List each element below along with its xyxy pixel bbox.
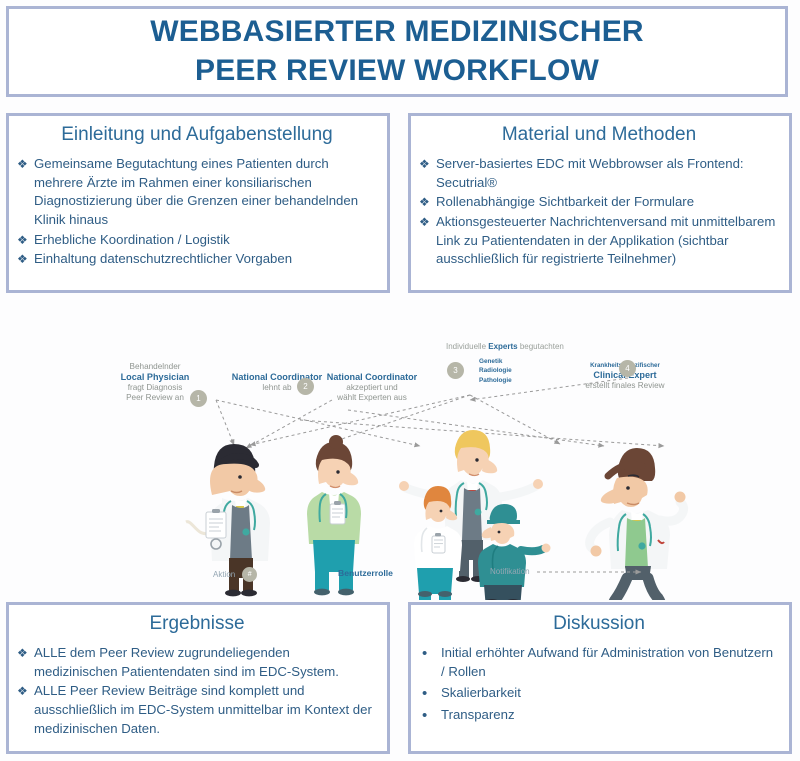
legend-action: Aktion # [213,567,257,582]
legend-role: Benutzerrolle [338,568,393,578]
page-title: WEBBASIERTER MEDIZINISCHER PEER REVIEW W… [150,13,644,90]
list-item: ❖ALLE dem Peer Review zugrundeliegenden … [17,644,377,681]
expert-specialty-pathologie: Pathologie [479,377,512,384]
bullet-marker-icon: • [422,683,427,706]
bullet-marker-icon: ❖ [17,682,28,700]
legend-notification-label: Notifikation [490,567,530,576]
bullet-marker-icon: • [422,643,427,666]
step-badge-1: 1 [190,390,207,407]
panel-methods-list: ❖Server-basiertes EDC mit Webbrowser als… [419,155,779,269]
panel-methods: Material und Methoden ❖Server-basiertes … [408,113,792,293]
list-item: ❖Rollenabhängige Sichtbarkeit der Formul… [419,193,779,212]
label-coordinator-reject-sub: lehnt ab [262,383,291,392]
list-item-text: Gemeinsame Begutachtung eines Patienten … [34,156,358,227]
list-item-text: ALLE dem Peer Review zugrundeliegenden m… [34,645,339,679]
list-item: ❖Gemeinsame Begutachtung eines Patienten… [17,155,377,230]
panel-methods-title: Material und Methoden [419,124,779,147]
panel-introduction: Einleitung und Aufgabenstellung ❖Gemeins… [6,113,390,293]
experts-note-strong: Experts [488,342,517,351]
list-item: ❖Einhaltung datenschutzrechtlicher Vorga… [17,250,377,269]
list-item: ❖ALLE Peer Review Beiträge sind komplett… [17,682,377,738]
page-title-line1: WEBBASIERTER MEDIZINISCHER [150,15,644,48]
bullet-marker-icon: ❖ [17,231,28,249]
panel-results: Ergebnisse ❖ALLE dem Peer Review zugrund… [6,602,390,754]
label-local-physician-sub1: fragt Diagnosis [128,383,183,392]
list-item: ❖Server-basiertes EDC mit Webbrowser als… [419,155,779,192]
bullet-marker-icon: ❖ [419,213,430,231]
expert-specialty-genetik: Genetik [479,358,502,365]
list-item-text: Einhaltung datenschutzrechtlicher Vorgab… [34,251,292,266]
legend-role-label: Benutzerrolle [338,568,393,578]
experts-note-post: begutachten [518,342,564,351]
workflow-figure: Individuelle Experts begutachten Genetik… [0,300,800,600]
list-item: •Transparenz [419,706,779,725]
illustration-clinical-expert [590,448,686,600]
list-item: •Skalierbarkeit [419,684,779,703]
panel-discussion-list: •Initial erhöhter Aufwand für Administra… [419,644,779,725]
step-badge-3: 3 [447,362,464,379]
workflow-diagram-svg [0,300,800,600]
panel-results-title: Ergebnisse [17,613,377,636]
list-item-text: Server-basiertes EDC mit Webbrowser als … [436,156,744,190]
experts-note: Individuelle Experts begutachten [446,342,564,351]
list-item-text: Aktionsgesteuerter Nachrichtenversand mi… [436,214,775,266]
label-local-physician-role: Local Physician [100,372,210,383]
list-item-text: Initial erhöhter Aufwand für Administrat… [441,645,773,679]
label-coordinator-accept-sub2: wählt Experten aus [337,393,407,402]
label-local-physician-above: Behandelnder [130,362,181,371]
bullet-marker-icon: ❖ [419,193,430,211]
label-coordinator-accept-role: National Coordinator [308,372,436,383]
list-item: ❖Erhebliche Koordination / Logistik [17,231,377,250]
legend-action-badge-icon: # [242,567,257,582]
list-item: ❖Aktionsgesteuerter Nachrichtenversand m… [419,213,779,269]
step-badge-4: 4 [619,360,636,377]
panel-discussion: Diskussion •Initial erhöhter Aufwand für… [408,602,792,754]
legend-dashed-arrow-icon [537,568,649,576]
panel-discussion-title: Diskussion [419,613,779,636]
bullet-marker-icon: ❖ [17,250,28,268]
legend-action-label: Aktion [213,570,235,579]
expert-specialty-radiologie: Radiologie [479,367,512,374]
poster-root: WEBBASIERTER MEDIZINISCHER PEER REVIEW W… [0,0,800,761]
label-local-physician-sub2: Peer Review an [126,393,184,402]
panel-results-list: ❖ALLE dem Peer Review zugrundeliegenden … [17,644,377,739]
list-item-text: Skalierbarkeit [441,685,521,700]
panel-introduction-title: Einleitung und Aufgabenstellung [17,124,377,147]
list-item-text: Rollenabhängige Sichtbarkeit der Formula… [436,194,694,209]
bullet-marker-icon: ❖ [17,644,28,662]
bullet-marker-icon: • [422,705,427,728]
poster-title-box: WEBBASIERTER MEDIZINISCHER PEER REVIEW W… [6,6,788,97]
panel-introduction-list: ❖Gemeinsame Begutachtung eines Patienten… [17,155,377,269]
label-clinical-expert-sub: erstellt finales Review [585,381,664,390]
list-item-text: Erhebliche Koordination / Logistik [34,232,230,247]
bullet-marker-icon: ❖ [17,155,28,173]
step-badge-2: 2 [297,378,314,395]
label-national-coordinator-accept: National Coordinator akzeptiert und wähl… [308,372,436,403]
list-item: •Initial erhöhter Aufwand für Administra… [419,644,779,681]
bullet-marker-icon: ❖ [419,155,430,173]
label-coordinator-accept-sub1: akzeptiert und [346,383,397,392]
legend-notification: Notifikation [490,567,649,576]
list-item-text: Transparenz [441,707,515,722]
list-item-text: ALLE Peer Review Beiträge sind komplett … [34,683,372,735]
experts-note-pre: Individuelle [446,342,488,351]
expert-specialties: Genetik Radiologie Pathologie [479,357,512,385]
page-title-line2: PEER REVIEW WORKFLOW [195,54,599,87]
